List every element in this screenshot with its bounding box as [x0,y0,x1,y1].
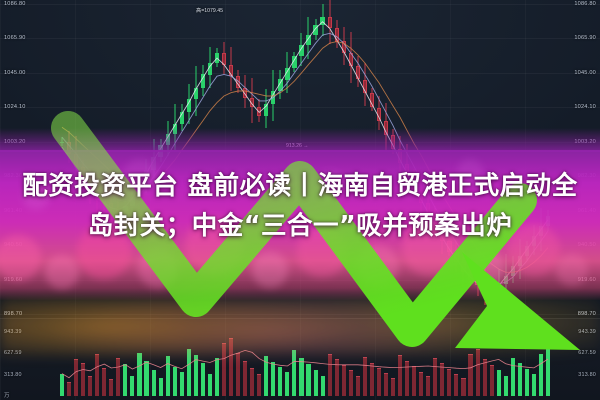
headline-text: 配资投资平台 盘前必读丨海南自贸港正式启动全岛封关；中金“三合一”吸并预案出炉 [18,166,582,246]
banner-image: 1086.801065.901045.001024.101003.20982.3… [0,0,600,400]
